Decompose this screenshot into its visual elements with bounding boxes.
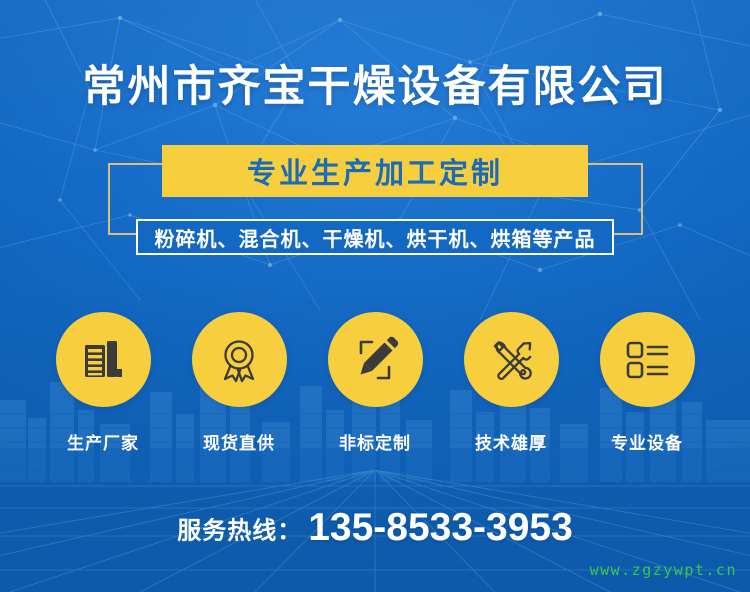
hotline-label: 服务热线： bbox=[177, 518, 302, 545]
feature-item-professional-equipment[interactable]: 专业设备 bbox=[579, 312, 715, 454]
feature-row: 生产厂家 现货直供 bbox=[0, 312, 750, 454]
hotline-number: 135-8533-3953 bbox=[308, 506, 573, 549]
feature-icon-circle bbox=[192, 312, 287, 407]
feature-item-custom-made[interactable]: 非标定制 bbox=[307, 312, 443, 454]
hotline: 服务热线：135-8533-3953 bbox=[0, 506, 750, 550]
promo-banner: 常州市齐宝干燥设备有限公司 专业生产加工定制 粉碎机、混合机、干燥机、烘干机、烘… bbox=[0, 0, 750, 592]
feature-label: 技术雄厚 bbox=[475, 429, 547, 454]
award-ribbon-icon bbox=[212, 333, 266, 387]
feature-label: 生产厂家 bbox=[67, 429, 139, 454]
feature-icon-circle bbox=[56, 312, 151, 407]
feature-icon-circle bbox=[600, 312, 695, 407]
feature-label: 专业设备 bbox=[611, 429, 683, 454]
checklist-icon bbox=[620, 333, 674, 387]
product-list-box: 粉碎机、混合机、干燥机、烘干机、烘箱等产品 bbox=[136, 219, 614, 255]
feature-item-stock-supply[interactable]: 现货直供 bbox=[171, 312, 307, 454]
factory-building-icon bbox=[76, 333, 130, 387]
feature-item-technical-strength[interactable]: 技术雄厚 bbox=[443, 312, 579, 454]
tagline-banner: 专业生产加工定制 bbox=[162, 145, 588, 197]
feature-icon-circle bbox=[328, 312, 423, 407]
pencil-ruler-icon bbox=[348, 333, 402, 387]
website-watermark: www.zgzywpt.cn bbox=[590, 561, 737, 579]
feature-item-manufacturer[interactable]: 生产厂家 bbox=[35, 312, 171, 454]
wrench-hammer-icon bbox=[484, 333, 538, 387]
feature-label: 现货直供 bbox=[203, 429, 275, 454]
feature-label: 非标定制 bbox=[339, 429, 411, 454]
company-title: 常州市齐宝干燥设备有限公司 bbox=[0, 66, 750, 109]
feature-icon-circle bbox=[464, 312, 559, 407]
